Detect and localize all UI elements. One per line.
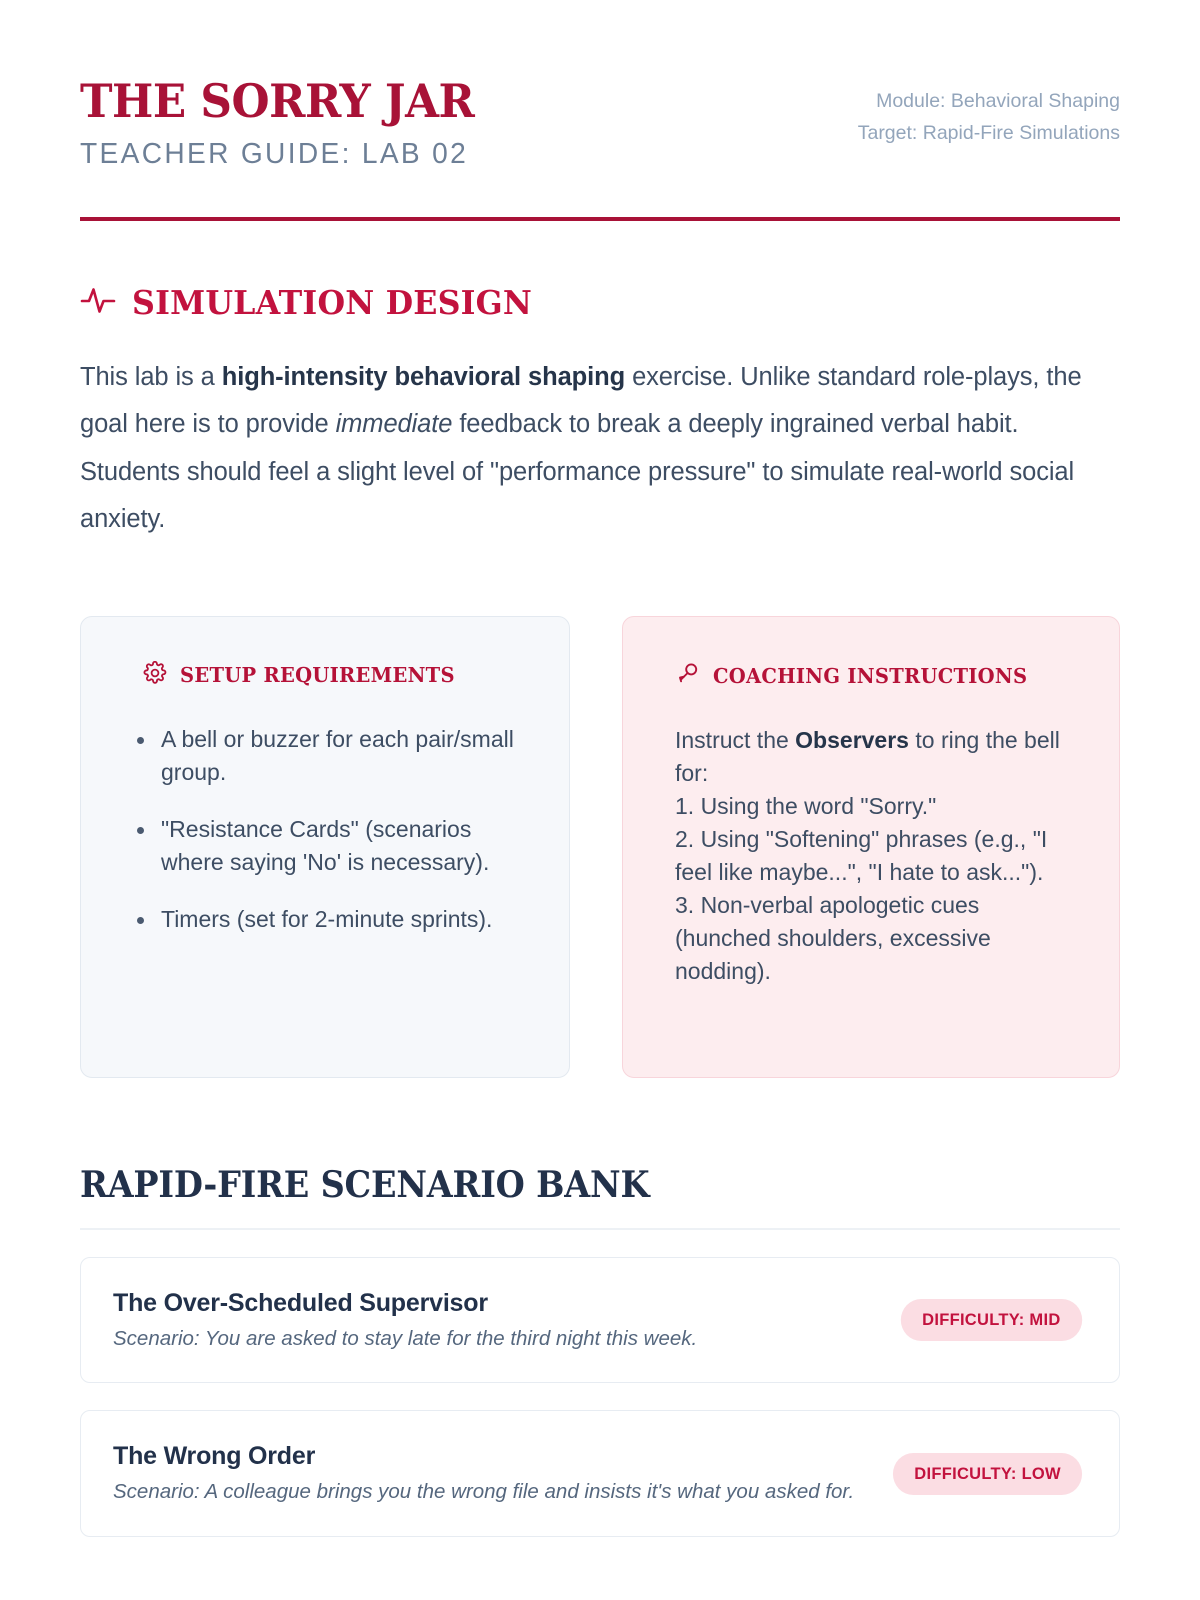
coaching-line: 3. Non-verbal apologetic cues (hunched s… (675, 889, 1079, 988)
document-page: THE SORRY JAR TEACHER GUIDE: LAB 02 Modu… (0, 0, 1200, 1600)
coaching-card-title: COACHING INSTRUCTIONS (713, 664, 1027, 688)
list-item: A bell or buzzer for each pair/small gro… (125, 723, 529, 789)
setup-requirements-card: SETUP REQUIREMENTS A bell or buzzer for … (80, 616, 570, 1078)
scenario-name: The Over-Scheduled Supervisor (113, 1288, 874, 1318)
status-badge: DIFFICULTY: MID (901, 1299, 1082, 1341)
scenario-bank-title: RAPID-FIRE SCENARIO BANK (80, 1164, 1047, 1206)
scenario-description: Scenario: A colleague brings you the wro… (113, 1479, 866, 1506)
header-meta: Module: Behavioral Shaping Target: Rapid… (858, 74, 1120, 149)
scenario-card[interactable]: The Wrong Order Scenario: A colleague br… (80, 1410, 1120, 1537)
list-item: "Resistance Cards" (scenarios where sayi… (125, 813, 529, 879)
coaching-line: 1. Using the word "Sorry." (675, 790, 1079, 823)
meta-module: Module: Behavioral Shaping (858, 86, 1120, 118)
gear-icon (143, 661, 167, 690)
header-rule (80, 217, 1120, 221)
info-cards-row: SETUP REQUIREMENTS A bell or buzzer for … (80, 616, 1120, 1078)
scenario-name: The Wrong Order (113, 1441, 866, 1471)
title-block: THE SORRY JAR TEACHER GUIDE: LAB 02 (80, 74, 495, 171)
scenario-bank-divider (80, 1228, 1120, 1230)
list-item: Timers (set for 2-minute sprints). (125, 903, 529, 936)
setup-card-title: SETUP REQUIREMENTS (180, 663, 455, 687)
setup-card-header: SETUP REQUIREMENTS (125, 661, 529, 690)
intro-text-1: This lab is a (80, 363, 222, 391)
scenario-card[interactable]: The Over-Scheduled Supervisor Scenario: … (80, 1257, 1120, 1384)
coaching-intro-prefix: Instruct the (675, 727, 795, 753)
coaching-card-header: COACHING INSTRUCTIONS (675, 661, 1079, 691)
section-title: SIMULATION DESIGN (132, 283, 532, 322)
scenario-text: The Wrong Order Scenario: A colleague br… (113, 1441, 866, 1506)
document-header: THE SORRY JAR TEACHER GUIDE: LAB 02 Modu… (80, 74, 1120, 171)
intro-italic-1: immediate (336, 410, 453, 438)
simulation-design-heading: SIMULATION DESIGN (80, 283, 1120, 322)
coaching-body: Instruct the Observers to ring the bell … (675, 724, 1079, 989)
intro-bold-1: high-intensity behavioral shaping (222, 363, 625, 391)
page-title: THE SORRY JAR (80, 78, 474, 124)
coaching-line: 2. Using "Softening" phrases (e.g., "I f… (675, 823, 1079, 889)
status-badge: DIFFICULTY: LOW (893, 1453, 1082, 1495)
pulse-icon (80, 283, 116, 322)
setup-requirements-list: A bell or buzzer for each pair/small gro… (125, 723, 529, 937)
intro-paragraph: This lab is a high-intensity behavioral … (80, 354, 1110, 544)
meta-target: Target: Rapid-Fire Simulations (858, 118, 1120, 150)
scenario-description: Scenario: You are asked to stay late for… (113, 1326, 874, 1353)
coaching-instructions-card: COACHING INSTRUCTIONS Instruct the Obser… (622, 616, 1120, 1078)
scenario-text: The Over-Scheduled Supervisor Scenario: … (113, 1288, 874, 1353)
whistle-icon (675, 661, 700, 691)
page-subtitle: TEACHER GUIDE: LAB 02 (80, 138, 483, 171)
coaching-intro-bold: Observers (795, 727, 909, 753)
